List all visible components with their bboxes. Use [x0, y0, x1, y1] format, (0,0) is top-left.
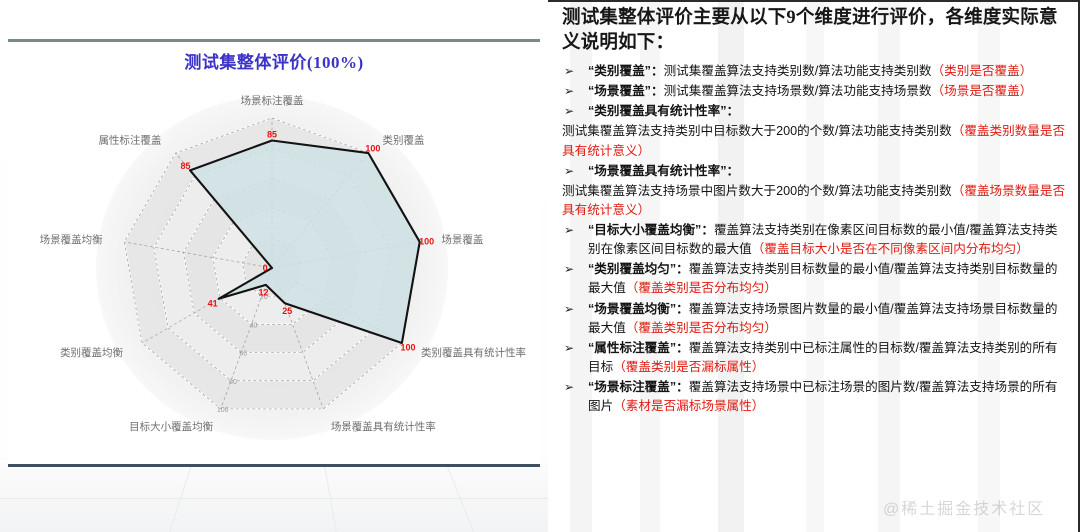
dimension-term: “目标大小覆盖均衡”：: [588, 223, 714, 237]
radar-value-label: 41: [208, 298, 218, 308]
dimension-item: ➢“类别覆盖”：测试集覆盖算法支持类别数/算法功能支持类别数（类别是否覆盖）: [562, 62, 1070, 81]
radar-tick-label: 40: [250, 322, 258, 329]
dimension-item: ➢“场景标注覆盖”：覆盖算法支持场景中已标注场景的图片数/覆盖算法支持场景的所有…: [562, 378, 1070, 416]
dimension-definition: 测试集覆盖算法支持类别中目标数大于200的个数/算法功能支持类别数: [562, 124, 952, 138]
dimension-definition: 测试集覆盖算法支持类别数/算法功能支持类别数: [664, 64, 932, 78]
radar-category-label: 场景覆盖具有统计性率: [331, 420, 436, 433]
bullet-marker-icon: ➢: [564, 300, 574, 318]
panel-top-border: [548, 0, 1080, 2]
dimension-item: ➢“目标大小覆盖均衡”：覆盖算法支持类别在像素区间目标数的最小值/覆盖算法支持类…: [562, 221, 1070, 259]
dimension-item: ➢“场景覆盖均衡”：覆盖算法支持场景图片数量的最小值/覆盖算法支持场景目标数量的…: [562, 300, 1070, 338]
bullet-marker-icon: ➢: [564, 221, 574, 239]
dimension-definition-continued: 测试集覆盖算法支持类别中目标数大于200的个数/算法功能支持类别数（覆盖类别数量…: [562, 122, 1070, 160]
radar-category-label: 类别覆盖: [383, 133, 425, 146]
bullet-marker-icon: ➢: [564, 162, 574, 180]
dimension-term: “类别覆盖具有统计性率”：: [588, 104, 739, 118]
radar-category-label: 类别覆盖均衡: [60, 346, 123, 359]
dimension-note: （场景是否覆盖）: [932, 84, 1033, 98]
radar-category-label: 场景覆盖: [441, 233, 483, 246]
explanation-content: 测试集整体评价主要从以下9个维度进行评价，各维度实际意义说明如下： ➢“类别覆盖…: [562, 6, 1070, 417]
page-root: 测试集整体评价(100%) 20406080100 场景标注覆盖类别覆盖场景覆盖…: [0, 0, 1080, 532]
radar-category-label: 目标大小覆盖均衡: [129, 420, 213, 433]
dimension-definition: 测试集覆盖算法支持场景中图片数大于200的个数/算法功能支持类别数: [562, 184, 952, 198]
watermark: @稀土掘金技术社区: [883, 495, 1045, 519]
radar-value-label: 100: [400, 343, 415, 353]
radar-value-label: 100: [419, 237, 434, 247]
slide-pane: 测试集整体评价(100%) 20406080100 场景标注覆盖类别覆盖场景覆盖…: [0, 0, 548, 532]
bullet-marker-icon: ➢: [564, 378, 574, 396]
dimension-item: ➢“类别覆盖具有统计性率”：: [562, 102, 1070, 121]
radar-category-label: 类别覆盖具有统计性率: [421, 346, 526, 359]
dimension-term: “场景覆盖”：: [588, 84, 664, 98]
radar-category-label: 场景标注覆盖: [241, 94, 304, 107]
dimension-list: ➢“类别覆盖”：测试集覆盖算法支持类别数/算法功能支持类别数（类别是否覆盖）➢“…: [562, 62, 1070, 417]
radar-value-label: 100: [365, 144, 380, 154]
radar-category-label: 属性标注覆盖: [98, 133, 161, 146]
radar-svg: 20406080100 场景标注覆盖类别覆盖场景覆盖类别覆盖具有统计性率场景覆盖…: [8, 56, 540, 460]
dimension-term: “属性标注覆盖”：: [588, 341, 689, 355]
radar-value-label: 85: [181, 161, 191, 171]
radar-value-label: 0: [263, 263, 268, 273]
slide-bottom-divider: [8, 464, 540, 467]
radar-chart: 20406080100 场景标注覆盖类别覆盖场景覆盖类别覆盖具有统计性率场景覆盖…: [8, 56, 540, 460]
dimension-term: “场景覆盖均衡”：: [588, 302, 689, 316]
dimension-item: ➢“场景覆盖”：测试集覆盖算法支持场景数/算法功能支持场景数（场景是否覆盖）: [562, 82, 1070, 101]
dimension-definition-continued: 测试集覆盖算法支持场景中图片数大于200的个数/算法功能支持类别数（覆盖场景数量…: [562, 182, 1070, 220]
dimension-note: （覆盖目标大小是否在不同像素区间内分布均匀）: [752, 242, 1029, 256]
dimension-note: （素材是否漏标场景属性）: [613, 399, 764, 413]
dimension-note: （覆盖类别是否漏标属性）: [613, 360, 764, 374]
dimension-term: “类别覆盖”：: [588, 64, 664, 78]
dimension-term: “场景覆盖具有统计性率”：: [588, 164, 739, 178]
radar-tick-label: 80: [229, 379, 237, 386]
bullet-marker-icon: ➢: [564, 260, 574, 278]
bullet-marker-icon: ➢: [564, 62, 574, 80]
radar-value-label: 85: [267, 130, 277, 140]
floor-line-h1: [0, 498, 548, 499]
dimension-item: ➢“属性标注覆盖”：覆盖算法支持类别中已标注属性的目标数/覆盖算法支持类别的所有…: [562, 339, 1070, 377]
dimension-definition: 测试集覆盖算法支持场景数/算法功能支持场景数: [664, 84, 932, 98]
slide-background-floor: [0, 466, 548, 532]
radar-category-label: 场景覆盖均衡: [40, 233, 103, 246]
radar-tick-label: 100: [217, 407, 229, 414]
dimension-term: “场景标注覆盖”：: [588, 380, 689, 394]
dimension-note: （覆盖类别是否分布均匀）: [626, 281, 777, 295]
dimension-term: “类别覆盖均匀”：: [588, 262, 689, 276]
dimension-note: （覆盖类别是否分布均匀）: [626, 321, 777, 335]
radar-tick-label: 60: [239, 351, 247, 358]
explanation-heading: 测试集整体评价主要从以下9个维度进行评价，各维度实际意义说明如下：: [562, 6, 1070, 56]
dimension-item: ➢“场景覆盖具有统计性率”：: [562, 162, 1070, 181]
radar-value-label: 25: [282, 306, 292, 316]
bullet-marker-icon: ➢: [564, 339, 574, 357]
explanation-panel: 测试集整体评价主要从以下9个维度进行评价，各维度实际意义说明如下： ➢“类别覆盖…: [548, 0, 1080, 532]
bullet-marker-icon: ➢: [564, 102, 574, 120]
bullet-marker-icon: ➢: [564, 82, 574, 100]
dimension-note: （类别是否覆盖）: [932, 64, 1033, 78]
radar-value-label: 12: [258, 287, 268, 297]
slide-top-divider: [8, 39, 540, 42]
dimension-item: ➢“类别覆盖均匀”：覆盖算法支持类别目标数量的最小值/覆盖算法支持类别目标数量的…: [562, 260, 1070, 298]
